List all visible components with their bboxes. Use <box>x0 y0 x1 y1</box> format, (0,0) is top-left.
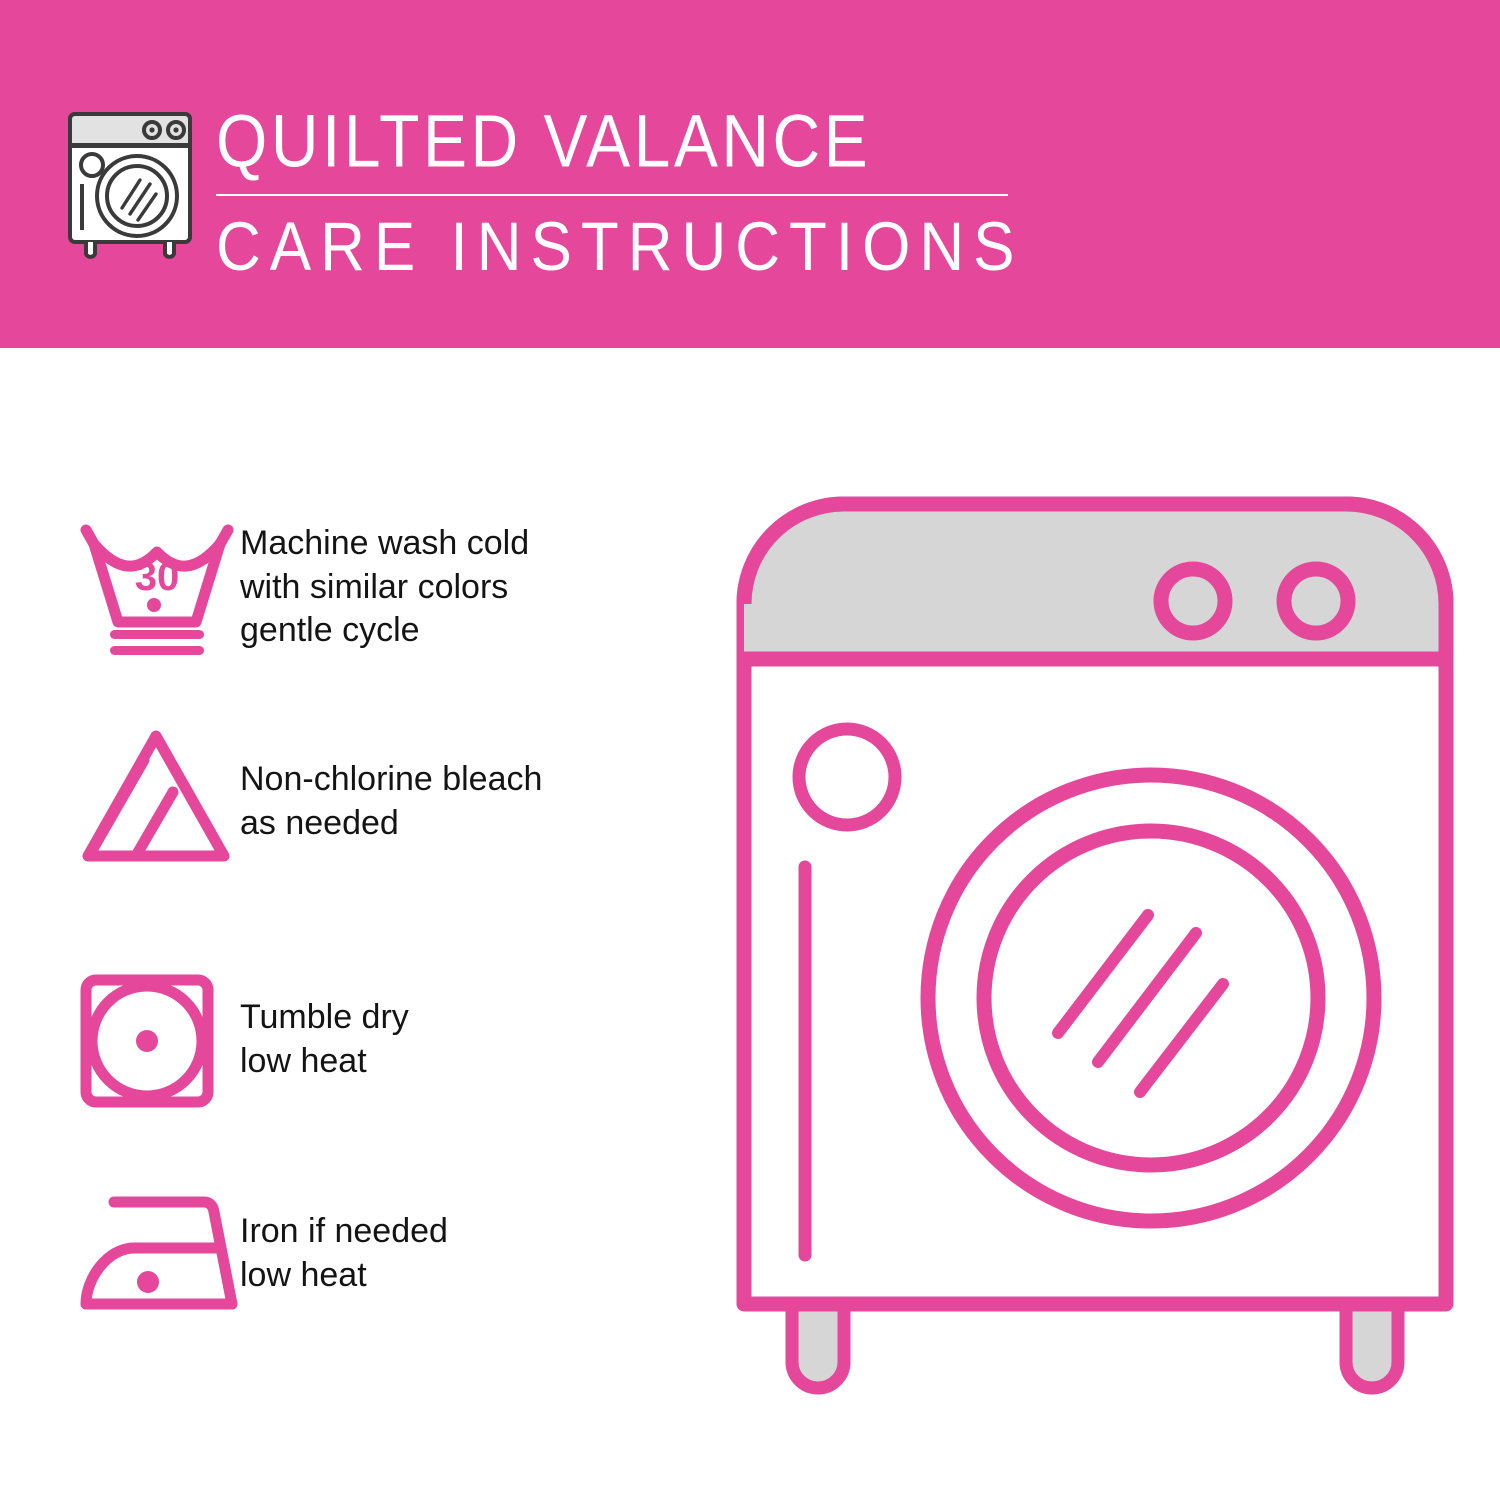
care-instruction-list: 30 Machine wash cold with similar colors… <box>0 348 700 1500</box>
care-text-bleach: Non-chlorine bleach as needed <box>240 758 700 845</box>
tumble-dry-low-icon <box>72 968 222 1119</box>
care-icon-cell: 30 <box>0 510 240 665</box>
care-row-tumble-dry: Tumble dry low heat <box>0 968 700 1119</box>
care-text-cell: Non-chlorine bleach as needed <box>240 720 700 845</box>
care-text-wash: Machine wash cold with similar colors ge… <box>240 522 700 653</box>
care-row-bleach: Non-chlorine bleach as needed <box>0 720 700 877</box>
title-divider <box>216 194 1008 196</box>
page-title: QUILTED VALANCE <box>216 104 1016 178</box>
tumble-dry-dot <box>136 1030 158 1052</box>
washing-machine-icon <box>64 108 196 260</box>
care-text-cell: Machine wash cold with similar colors ge… <box>240 510 700 653</box>
header-text-block: QUILTED VALANCE CARE INSTRUCTIONS <box>216 104 1016 276</box>
care-text-cell: Iron if needed low heat <box>240 1186 700 1297</box>
machine-leg-right <box>1346 1300 1398 1388</box>
care-icon-cell <box>0 968 240 1119</box>
wash-tub-30-icon: 30 <box>72 510 242 665</box>
wash-dot <box>147 598 161 612</box>
iron-low-heat-icon <box>72 1186 252 1323</box>
front-load-washing-machine-illustration <box>730 490 1460 1420</box>
page-subtitle: CARE INSTRUCTIONS <box>216 214 1016 282</box>
care-text-iron: Iron if needed low heat <box>240 1210 700 1297</box>
care-text-cell: Tumble dry low heat <box>240 968 700 1083</box>
iron-heat-dot <box>137 1271 159 1293</box>
machine-leg-left <box>792 1300 844 1388</box>
care-text-tumble-dry: Tumble dry low heat <box>240 996 700 1083</box>
care-row-iron: Iron if needed low heat <box>0 1186 700 1323</box>
care-instructions-page: QUILTED VALANCE CARE INSTRUCTIONS <box>0 0 1500 1500</box>
care-icon-cell <box>0 720 240 877</box>
bleach-triangle-icon <box>72 720 240 877</box>
header-band: QUILTED VALANCE CARE INSTRUCTIONS <box>0 0 1500 348</box>
wash-temperature-label: 30 <box>135 555 180 599</box>
care-row-wash: 30 Machine wash cold with similar colors… <box>0 510 700 665</box>
care-icon-cell <box>0 1186 240 1323</box>
